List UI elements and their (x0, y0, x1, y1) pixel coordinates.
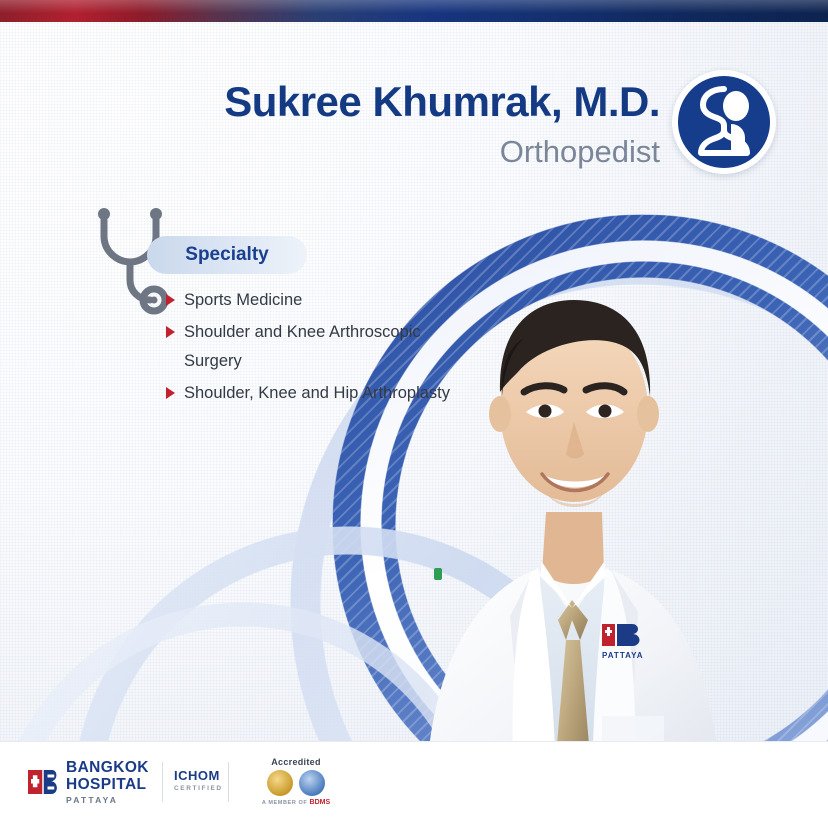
list-item-label: Sports Medicine (184, 286, 302, 315)
badge-circle (678, 76, 770, 168)
hospital-name-line1: BANGKOK (66, 760, 149, 776)
page-title: Sukree Khumrak, M.D. (60, 78, 660, 126)
top-color-band (0, 0, 828, 22)
ichom-name: ICHOM (174, 768, 223, 783)
footer-divider-2 (228, 762, 229, 802)
member-prefix: A MEMBER OF (262, 800, 308, 806)
doctor-profile-card: Sukree Khumrak, M.D. Orthopedist Special… (0, 0, 828, 828)
member-brand: BDMS (310, 799, 331, 806)
hospital-cross-b-icon (28, 767, 58, 797)
hospital-branch: PATTAYA (66, 796, 149, 805)
specialty-pill-label: Specialty (147, 236, 307, 274)
ichom-sub: CERTIFIED (174, 785, 223, 792)
accreditation-block: Accredited A MEMBER OF BDMS (236, 757, 356, 806)
bangkok-hospital-logo: BANGKOK HOSPITAL PATTAYA (28, 760, 149, 805)
triangle-bullet-icon (166, 294, 175, 306)
footer-divider-1 (162, 762, 163, 802)
ichom-logo: ICHOM CERTIFIED (174, 768, 223, 792)
gold-seal-icon (267, 770, 293, 796)
doctor-specialty-title: Orthopedist (60, 134, 660, 170)
hospital-name-line2: HOSPITAL (66, 777, 149, 793)
blue-seal-icon (299, 770, 325, 796)
accredited-label: Accredited (236, 757, 356, 767)
knee-joint-icon (691, 86, 757, 158)
footer-bar: BANGKOK HOSPITAL PATTAYA ICHOM CERTIFIED… (0, 741, 828, 828)
triangle-bullet-icon (166, 326, 175, 338)
coat-hospital-logo: PATTAYA (602, 624, 644, 660)
doctor-portrait: PATTAYA (406, 196, 736, 796)
accreditation-seals (236, 770, 356, 796)
hospital-wordmark: BANGKOK HOSPITAL PATTAYA (66, 760, 149, 805)
knee-joint-badge (672, 70, 776, 174)
svg-text:PATTAYA: PATTAYA (602, 651, 644, 660)
member-of-line: A MEMBER OF BDMS (236, 799, 356, 806)
triangle-bullet-icon (166, 387, 175, 399)
specialty-pill: Specialty (147, 236, 307, 274)
